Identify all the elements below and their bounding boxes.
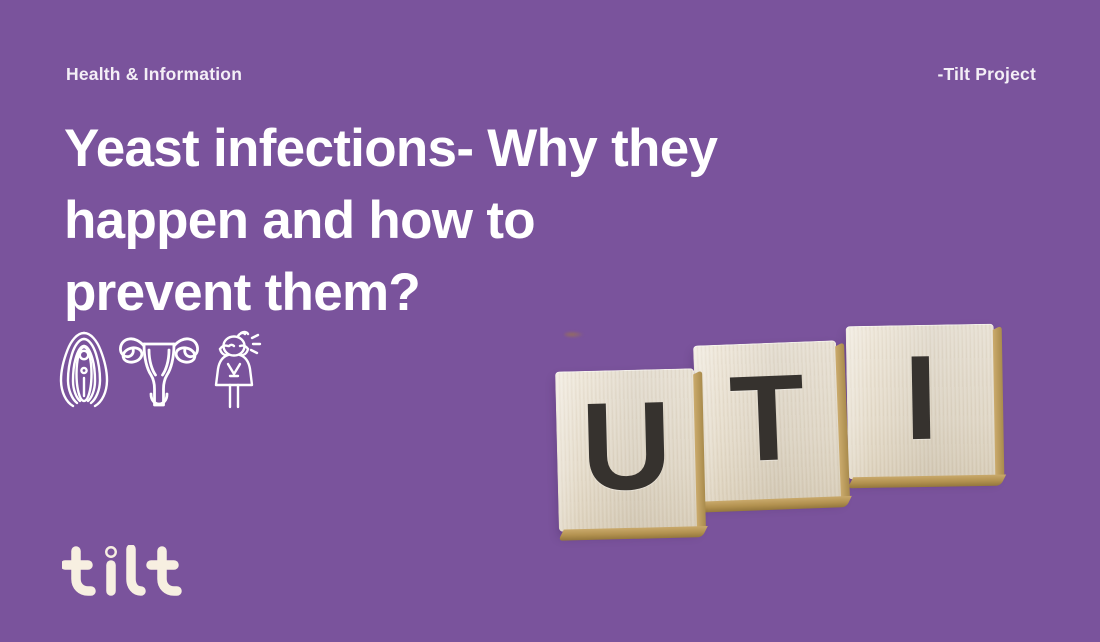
woman-in-discomfort-icon	[208, 330, 264, 410]
health-icon-row	[58, 328, 264, 410]
wooden-tile-i: I	[846, 324, 997, 480]
page-title: Yeast infections- Why they happen and ho…	[64, 113, 724, 329]
uterus-anatomy-icon	[116, 330, 202, 410]
byline-label: -Tilt Project	[937, 64, 1036, 85]
photo-speck	[564, 331, 584, 338]
vulva-anatomy-icon	[58, 330, 110, 410]
wooden-tile-u-letter: U	[580, 382, 673, 509]
tilt-logo[interactable]	[62, 545, 182, 599]
wooden-tile-t: T	[693, 340, 842, 503]
category-eyebrow: Health & Information	[66, 64, 242, 85]
wooden-tile-u: U	[555, 368, 698, 531]
wooden-tile-i-letter: I	[903, 337, 938, 458]
wooden-tile-t-letter: T	[728, 356, 807, 481]
article-banner: Health & Information -Tilt Project Yeast…	[0, 0, 1100, 642]
